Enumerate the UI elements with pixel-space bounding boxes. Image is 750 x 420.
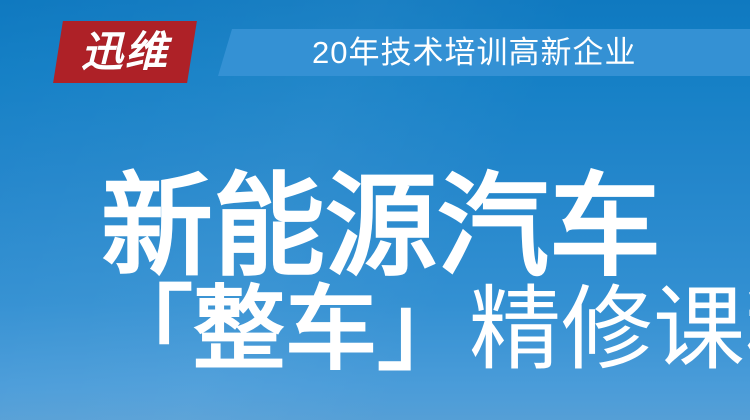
headline-line-secondary: 「整车」精修课程 — [101, 283, 701, 377]
headline-secondary-rest: 精修课程 — [469, 279, 750, 381]
poster-canvas: 20年技术培训高新企业 迅维 新能源汽车 「整车」精修课程 — [0, 0, 750, 420]
tagline-text: 20年技术培训高新企业 — [312, 29, 712, 76]
bracket-open: 「 — [101, 279, 193, 381]
brand-logo-text: 迅维 — [58, 21, 192, 83]
headline-emphasis-word: 整车 — [193, 279, 377, 381]
bracket-close: 」 — [377, 279, 469, 381]
poster-header: 20年技术培训高新企业 迅维 — [0, 0, 750, 105]
headline-line-primary: 新能源汽车 — [101, 168, 681, 286]
